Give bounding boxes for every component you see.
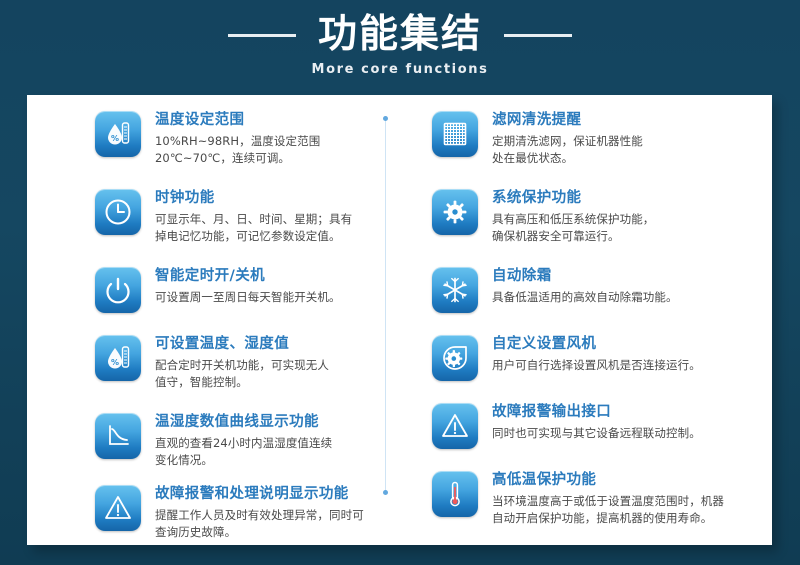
page-title: 功能集结 bbox=[318, 12, 482, 58]
feature-desc-line: 配合定时开关机功能，可实现无人 bbox=[155, 357, 329, 374]
feature-title: 温湿度数值曲线显示功能 bbox=[155, 412, 332, 432]
content-card: % 温度设定范围 10%RH~98RH，温度设定范围 bbox=[27, 95, 772, 545]
feature-desc: 配合定时开关机功能，可实现无人 值守，智能控制。 bbox=[155, 357, 329, 391]
warning-triangle-icon bbox=[432, 403, 478, 449]
feature-desc: 提醒工作人员及时有效处理异常，同时可 查询历史故障。 bbox=[155, 507, 364, 541]
feature-text: 故障报警和处理说明显示功能 提醒工作人员及时有效处理异常，同时可 查询历史故障。 bbox=[155, 483, 364, 541]
feature-text: 时钟功能 可显示年、月、日、时间、星期；具有 掉电记忆功能，可记忆参数设定值。 bbox=[155, 187, 352, 245]
svg-text:%: % bbox=[111, 134, 119, 143]
feature-title: 系统保护功能 bbox=[492, 188, 654, 208]
feature-item[interactable]: 自定义设置风机 用户可自行选择设置风机是否连接运行。 bbox=[432, 333, 762, 381]
feature-desc-line: 自动开启保护功能，提高机器的使用寿命。 bbox=[492, 510, 724, 527]
title-rule-right bbox=[504, 34, 572, 37]
feature-column-left: % 温度设定范围 10%RH~98RH，温度设定范围 bbox=[95, 109, 375, 551]
humidity-thermometer-icon: % bbox=[95, 335, 141, 381]
humidity-thermometer-icon: % bbox=[95, 111, 141, 157]
feature-text: 自定义设置风机 用户可自行选择设置风机是否连接运行。 bbox=[492, 333, 701, 374]
power-icon bbox=[95, 267, 141, 313]
feature-desc-line: 定期清洗滤网，保证机器性能 bbox=[492, 133, 643, 150]
feature-desc-line: 20℃~70℃，连续可调。 bbox=[155, 150, 320, 167]
feature-desc-line: 具有高压和低压系统保护功能， bbox=[492, 211, 654, 228]
feature-desc-line: 查询历史故障。 bbox=[155, 524, 364, 541]
filter-grid-icon bbox=[432, 111, 478, 157]
feature-desc: 定期清洗滤网，保证机器性能 处在最优状态。 bbox=[492, 133, 643, 167]
feature-item[interactable]: 智能定时开/关机 可设置周一至周日每天智能开关机。 bbox=[95, 265, 375, 313]
feature-desc-line: 可显示年、月、日、时间、星期；具有 bbox=[155, 211, 352, 228]
feature-item[interactable]: 故障报警输出接口 同时也可实现与其它设备远程联动控制。 bbox=[432, 401, 762, 449]
page-subtitle: More core functions bbox=[0, 62, 800, 77]
snowflake-icon bbox=[432, 267, 478, 313]
feature-desc-line: 用户可自行选择设置风机是否连接运行。 bbox=[492, 357, 701, 374]
feature-text: 可设置温度、湿度值 配合定时开关机功能，可实现无人 值守，智能控制。 bbox=[155, 333, 329, 391]
feature-item[interactable]: 滤网清洗提醒 定期清洗滤网，保证机器性能 处在最优状态。 bbox=[432, 109, 762, 167]
feature-desc-line: 10%RH~98RH，温度设定范围 bbox=[155, 133, 320, 150]
fan-blower-icon bbox=[432, 335, 478, 381]
feature-item[interactable]: 系统保护功能 具有高压和低压系统保护功能， 确保机器安全可靠运行。 bbox=[432, 187, 762, 245]
feature-desc: 具备低温适用的高效自动除霜功能。 bbox=[492, 289, 678, 306]
feature-item[interactable]: % 温度设定范围 10%RH~98RH，温度设定范围 bbox=[95, 109, 375, 167]
feature-desc-line: 值守，智能控制。 bbox=[155, 374, 329, 391]
feature-title: 滤网清洗提醒 bbox=[492, 110, 643, 130]
feature-desc-line: 直观的查看24小时内温湿度值连续 bbox=[155, 435, 332, 452]
title-row: 功能集结 bbox=[0, 12, 800, 58]
page-root: 功能集结 More core functions % bbox=[0, 0, 800, 565]
feature-desc-line: 提醒工作人员及时有效处理异常，同时可 bbox=[155, 507, 364, 524]
feature-title: 温度设定范围 bbox=[155, 110, 320, 130]
feature-text: 自动除霜 具备低温适用的高效自动除霜功能。 bbox=[492, 265, 678, 306]
feature-text: 滤网清洗提醒 定期清洗滤网，保证机器性能 处在最优状态。 bbox=[492, 109, 643, 167]
feature-desc-line: 处在最优状态。 bbox=[492, 150, 643, 167]
title-rule-left bbox=[228, 34, 296, 37]
feature-desc-line: 具备低温适用的高效自动除霜功能。 bbox=[492, 289, 678, 306]
feature-item[interactable]: 故障报警和处理说明显示功能 提醒工作人员及时有效处理异常，同时可 查询历史故障。 bbox=[95, 483, 375, 541]
feature-text: 高低温保护功能 当环境温度高于或低于设置温度范围时，机器 自动开启保护功能，提高… bbox=[492, 469, 724, 527]
feature-desc: 具有高压和低压系统保护功能， 确保机器安全可靠运行。 bbox=[492, 211, 654, 245]
feature-desc-line: 可设置周一至周日每天智能开关机。 bbox=[155, 289, 341, 306]
feature-item[interactable]: % 可设置温度、湿度值 配合定时开关机功能，可实现无人 bbox=[95, 333, 375, 391]
thermometer-icon bbox=[432, 471, 478, 517]
feature-item[interactable]: 温湿度数值曲线显示功能 直观的查看24小时内温湿度值连续 变化情况。 bbox=[95, 411, 375, 469]
curve-chart-icon bbox=[95, 413, 141, 459]
feature-desc-line: 同时也可实现与其它设备远程联动控制。 bbox=[492, 425, 701, 442]
page-header: 功能集结 More core functions bbox=[0, 0, 800, 95]
feature-title: 智能定时开/关机 bbox=[155, 266, 341, 286]
feature-desc: 当环境温度高于或低于设置温度范围时，机器 自动开启保护功能，提高机器的使用寿命。 bbox=[492, 493, 724, 527]
feature-item[interactable]: 时钟功能 可显示年、月、日、时间、星期；具有 掉电记忆功能，可记忆参数设定值。 bbox=[95, 187, 375, 245]
feature-title: 可设置温度、湿度值 bbox=[155, 334, 329, 354]
feature-desc: 可设置周一至周日每天智能开关机。 bbox=[155, 289, 341, 306]
feature-item[interactable]: 自动除霜 具备低温适用的高效自动除霜功能。 bbox=[432, 265, 762, 313]
feature-title: 高低温保护功能 bbox=[492, 470, 724, 490]
feature-title: 故障报警输出接口 bbox=[492, 402, 701, 422]
feature-title: 故障报警和处理说明显示功能 bbox=[155, 484, 364, 504]
feature-desc: 10%RH~98RH，温度设定范围 20℃~70℃，连续可调。 bbox=[155, 133, 320, 167]
clock-icon bbox=[95, 189, 141, 235]
gear-icon bbox=[432, 189, 478, 235]
feature-text: 故障报警输出接口 同时也可实现与其它设备远程联动控制。 bbox=[492, 401, 701, 442]
feature-text: 温度设定范围 10%RH~98RH，温度设定范围 20℃~70℃，连续可调。 bbox=[155, 109, 320, 167]
feature-desc-line: 当环境温度高于或低于设置温度范围时，机器 bbox=[492, 493, 724, 510]
feature-text: 智能定时开/关机 可设置周一至周日每天智能开关机。 bbox=[155, 265, 341, 306]
feature-desc-line: 确保机器安全可靠运行。 bbox=[492, 228, 654, 245]
feature-desc: 同时也可实现与其它设备远程联动控制。 bbox=[492, 425, 701, 442]
feature-title: 自动除霜 bbox=[492, 266, 678, 286]
feature-text: 系统保护功能 具有高压和低压系统保护功能， 确保机器安全可靠运行。 bbox=[492, 187, 654, 245]
feature-desc-line: 掉电记忆功能，可记忆参数设定值。 bbox=[155, 228, 352, 245]
feature-column-right: 滤网清洗提醒 定期清洗滤网，保证机器性能 处在最优状态。 bbox=[432, 109, 762, 537]
feature-desc: 用户可自行选择设置风机是否连接运行。 bbox=[492, 357, 701, 374]
feature-item[interactable]: 高低温保护功能 当环境温度高于或低于设置温度范围时，机器 自动开启保护功能，提高… bbox=[432, 469, 762, 527]
feature-desc: 直观的查看24小时内温湿度值连续 变化情况。 bbox=[155, 435, 332, 469]
feature-text: 温湿度数值曲线显示功能 直观的查看24小时内温湿度值连续 变化情况。 bbox=[155, 411, 332, 469]
svg-text:%: % bbox=[111, 358, 119, 367]
feature-title: 自定义设置风机 bbox=[492, 334, 701, 354]
warning-triangle-icon bbox=[95, 485, 141, 531]
feature-desc: 可显示年、月、日、时间、星期；具有 掉电记忆功能，可记忆参数设定值。 bbox=[155, 211, 352, 245]
feature-desc-line: 变化情况。 bbox=[155, 452, 332, 469]
feature-title: 时钟功能 bbox=[155, 188, 352, 208]
